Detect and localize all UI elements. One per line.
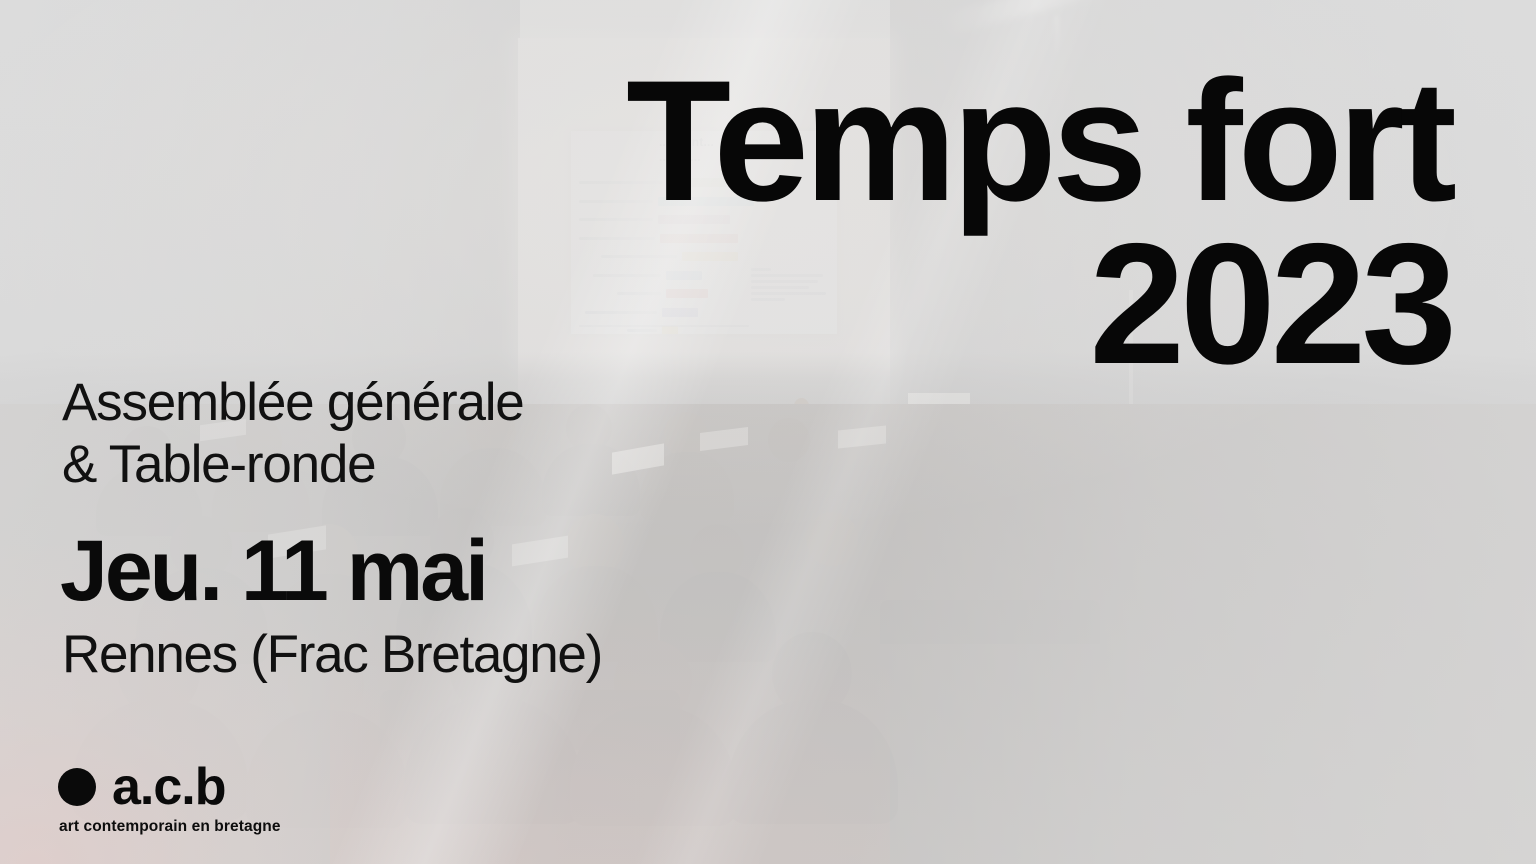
acb-logo[interactable]: a.c.b art contemporain en bretagne — [58, 761, 298, 836]
poster-title-line-2: 2023 — [532, 223, 1452, 386]
poster-title: Temps fort 2023 — [532, 60, 1452, 387]
poster-subtitle: Assemblée générale & Table-ronde — [62, 372, 524, 496]
logo-wordmark: a.c.b — [112, 761, 226, 813]
logo-wordmark-row: a.c.b — [58, 761, 298, 813]
event-date: Jeu. 11 mai — [60, 528, 486, 614]
poster-subtitle-line-1: Assemblée générale — [62, 372, 524, 434]
event-place: Rennes (Frac Bretagne) — [62, 628, 602, 681]
logo-tagline: art contemporain en bretagne — [59, 818, 298, 836]
poster-canvas: ...attent......cce... — [0, 0, 1536, 864]
text-layer: Temps fort 2023 Assemblée générale & Tab… — [0, 0, 1536, 864]
poster-subtitle-line-2: & Table-ronde — [62, 434, 524, 496]
filled-circle-icon — [58, 768, 96, 806]
